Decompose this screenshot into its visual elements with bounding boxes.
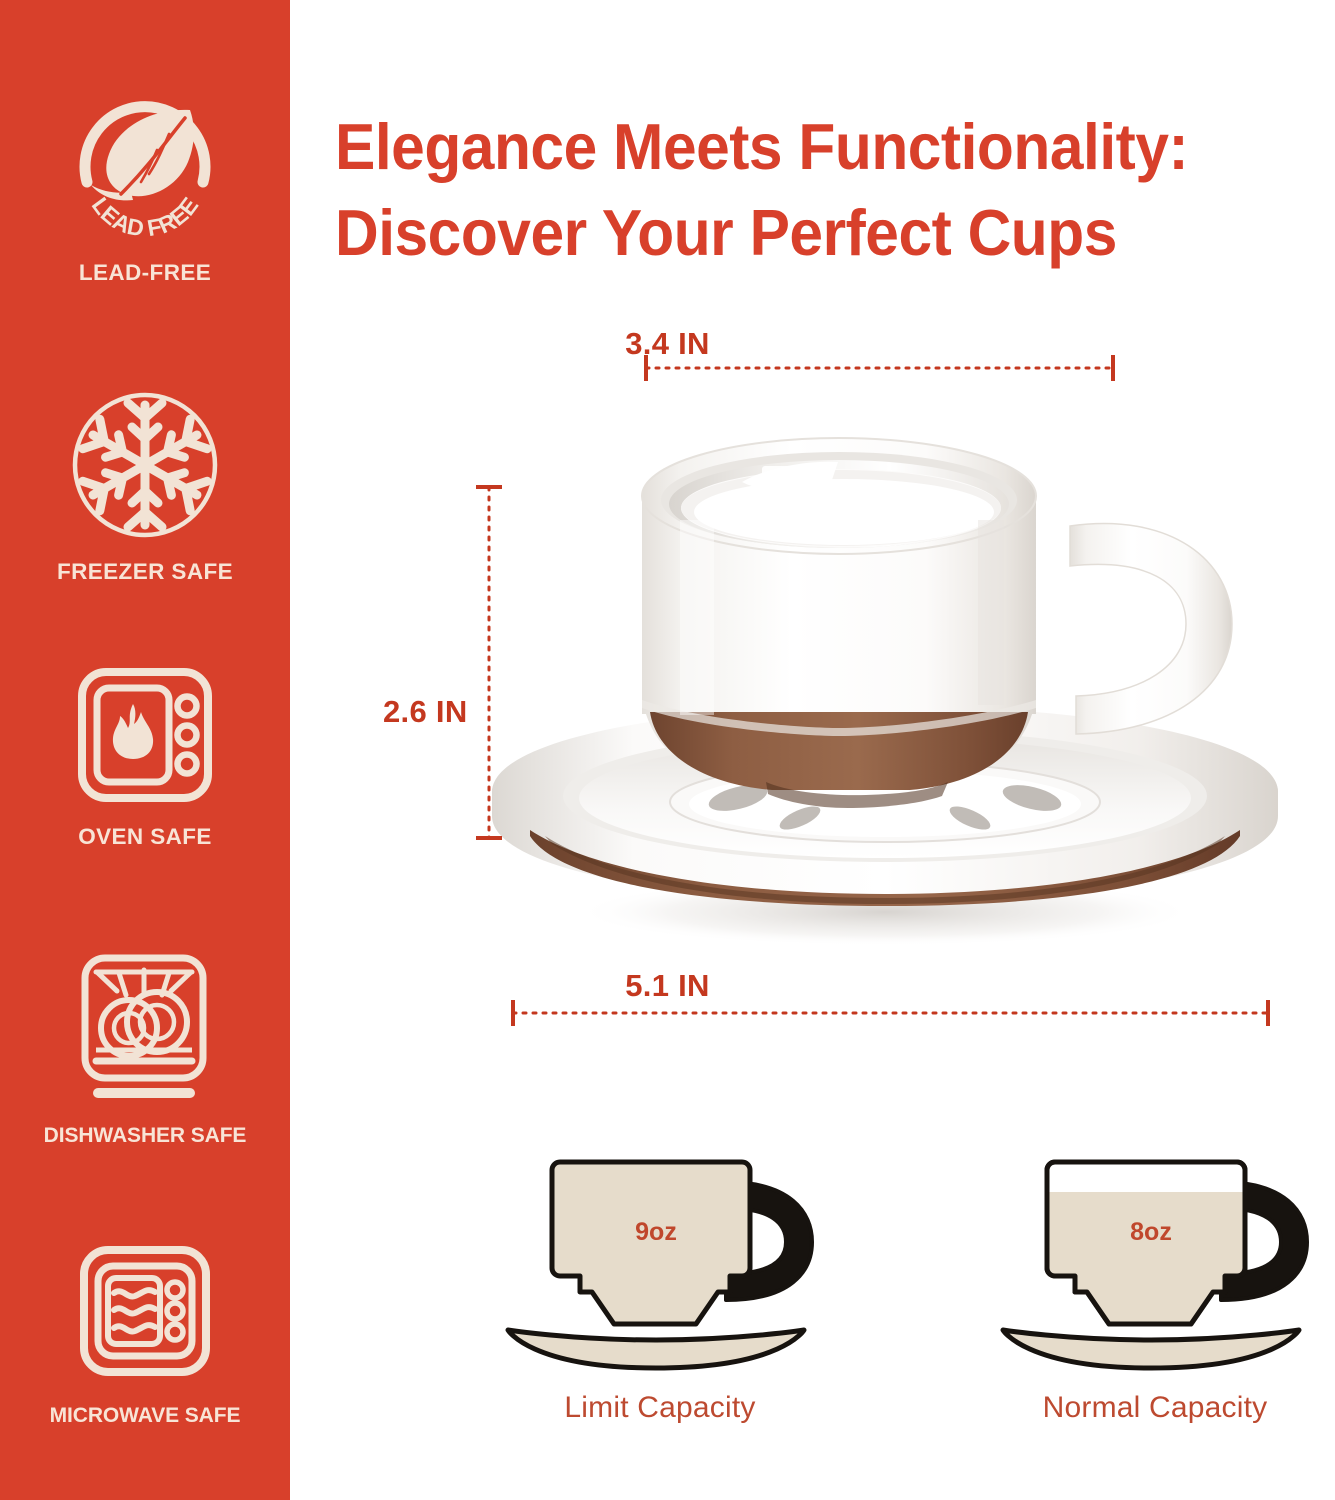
- lead-free-badge-text: LEAD FREE: [87, 192, 204, 241]
- capacity-diagram-normal: 8oz Normal Capacity: [955, 1140, 1335, 1425]
- feature-freezer-safe: FREEZER SAFE: [0, 385, 290, 585]
- feature-label-oven-safe: OVEN SAFE: [0, 824, 290, 850]
- capacity-label-normal: Normal Capacity: [955, 1391, 1335, 1425]
- feature-oven-safe: OVEN SAFE: [0, 660, 290, 850]
- features-sidebar: LEAD FREE LEAD-FREE: [0, 0, 290, 1500]
- capacity-volume-normal: 8oz: [1130, 1218, 1172, 1246]
- cup-diagram-limit: 9oz: [490, 1140, 830, 1380]
- feature-label-freezer-safe: FREEZER SAFE: [0, 559, 290, 585]
- feature-microwave-safe: MICROWAVE SAFE: [0, 1240, 290, 1428]
- feature-lead-free: LEAD FREE LEAD-FREE: [0, 70, 290, 286]
- oven-flame-icon: [70, 660, 220, 810]
- snowflake-icon: [65, 385, 225, 545]
- dimension-label-saucer-width: 5.1 IN: [0, 968, 1335, 1004]
- product-photo-cup-and-saucer: [470, 400, 1300, 960]
- capacity-volume-limit: 9oz: [635, 1218, 677, 1246]
- infographic-page: LEAD FREE LEAD-FREE: [0, 0, 1335, 1500]
- capacity-diagram-limit: 9oz Limit Capacity: [460, 1140, 860, 1425]
- capacity-label-limit: Limit Capacity: [460, 1391, 860, 1425]
- microwave-icon: [69, 1240, 221, 1390]
- dimension-label-cup-width: 3.4 IN: [0, 326, 1335, 362]
- feature-label-microwave-safe: MICROWAVE SAFE: [0, 1404, 290, 1428]
- dimension-label-cup-height: 2.6 IN: [383, 694, 468, 730]
- page-title-line-1: Elegance Meets Functionality:: [335, 104, 1228, 190]
- cup-saucer-illustration: [470, 400, 1300, 960]
- cup-diagram-normal: 8oz: [985, 1140, 1325, 1380]
- feature-label-lead-free: LEAD-FREE: [0, 260, 290, 286]
- feature-label-dishwasher-safe: DISHWASHER SAFE: [0, 1124, 290, 1148]
- page-title-line-2: Discover Your Perfect Cups: [335, 190, 1228, 276]
- lead-free-leaf-icon: LEAD FREE: [57, 70, 233, 246]
- page-title: Elegance Meets Functionality: Discover Y…: [335, 104, 1228, 277]
